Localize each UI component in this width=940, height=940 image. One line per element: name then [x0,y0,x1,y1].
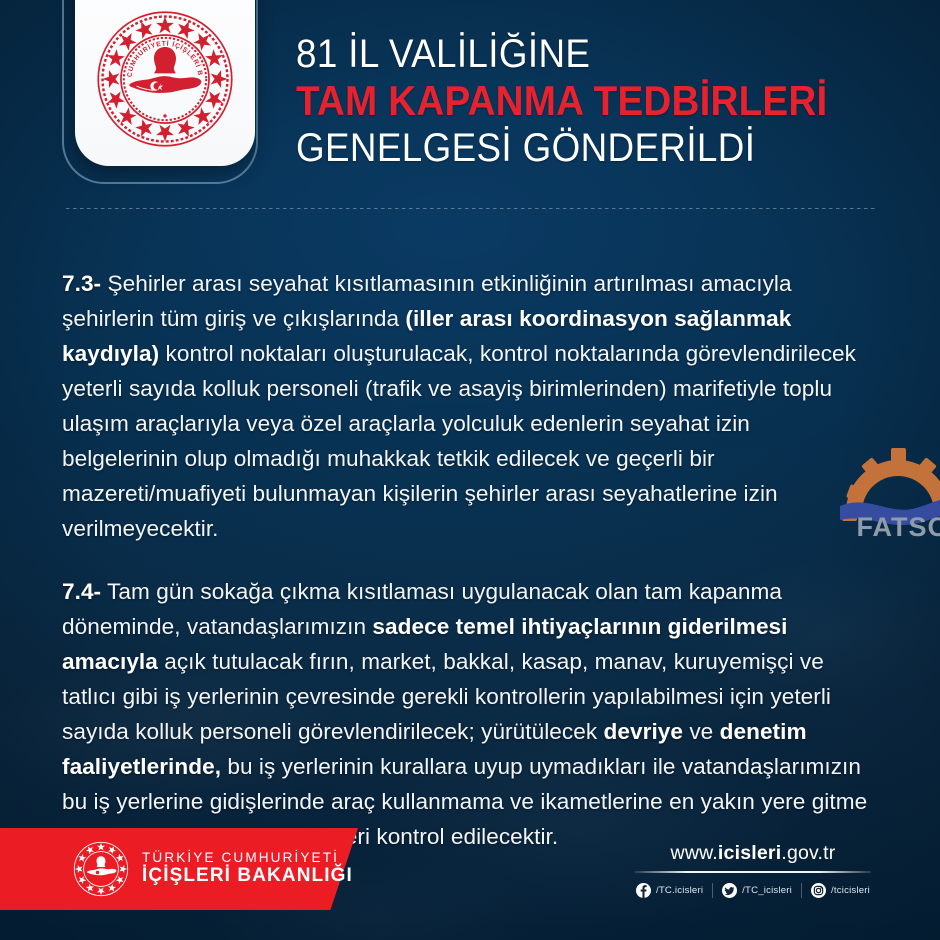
facebook-icon [636,883,651,898]
ministry-line-2: İÇİŞLERİ BAKANLIĞI [142,866,353,887]
ministry-name-block: TÜRKİYE CUMHURİYETİ İÇİŞLERİ BAKANLIĞI [142,851,353,886]
circular-body-text: 7.3- Şehirler arası seyahat kısıtlamasın… [62,266,872,882]
website-suffix: .gov.tr [781,842,835,864]
social-link-facebook[interactable]: /TC.icisleri [627,883,712,898]
paragraph-number: 7.3- [62,271,101,296]
social-links: /TC.icisleri/TC_icisleri/tcicisleri [628,883,878,898]
social-handle: /TC_icisleri [742,885,792,896]
instagram-icon [811,883,826,898]
social-handle: /tcicisleri [831,885,870,896]
website-prefix: www. [671,842,718,864]
ministry-line-1: TÜRKİYE CUMHURİYETİ [142,851,353,866]
headline-line-2: TAM KAPANMA TEDBİRLERİ [296,80,827,122]
emphasised-text: devriye [604,719,683,744]
website-url[interactable]: www.icisleri.gov.tr [628,842,878,865]
website-underline [635,871,871,873]
body-text: kontrol noktaları oluşturulacak, kontrol… [62,341,856,541]
ministry-seal-icon: TÜRKİYE CUMHURİYETİ İÇİŞLERİ BAKANLIĞI [94,8,236,150]
paragraph-7-4: 7.4- Tam gün sokağa çıkma kısıtlaması uy… [62,574,872,854]
poster-canvas: TÜRKİYE CUMHURİYETİ İÇİŞLERİ BAKANLIĞI 8… [0,0,940,940]
social-link-instagram[interactable]: /tcicisleri [801,883,879,898]
ministry-seal-white-icon [72,840,130,898]
paragraph-number: 7.4- [62,579,101,604]
headline-line-1: 81 İL VALİLİĞİNE [296,34,827,74]
website-brand: icisleri [718,842,781,864]
headline-line-3: GENELGESİ GÖNDERİLDİ [296,128,827,168]
social-handle: /TC.icisleri [656,885,703,896]
poster-header: TÜRKİYE CUMHURİYETİ İÇİŞLERİ BAKANLIĞI 8… [0,0,940,212]
twitter-icon [722,883,737,898]
social-link-twitter[interactable]: /TC_icisleri [712,883,801,898]
paragraph-7-3: 7.3- Şehirler arası seyahat kısıtlamasın… [62,266,872,546]
emblem-card: TÜRKİYE CUMHURİYETİ İÇİŞLERİ BAKANLIĞI [75,0,255,166]
svg-text:TÜRKİYE CUMHURİYETİ İÇİŞLERİ B: TÜRKİYE CUMHURİYETİ İÇİŞLERİ BAKANLIĞI [94,8,203,80]
footer-ministry-logo: TÜRKİYE CUMHURİYETİ İÇİŞLERİ BAKANLIĞI [72,840,353,898]
footer-web-block: www.icisleri.gov.tr /TC.icisleri/TC_icis… [628,842,878,898]
body-text: ve [683,719,720,744]
header-divider [66,208,876,209]
headline-block: 81 İL VALİLİĞİNE TAM KAPANMA TEDBİRLERİ … [296,34,874,174]
